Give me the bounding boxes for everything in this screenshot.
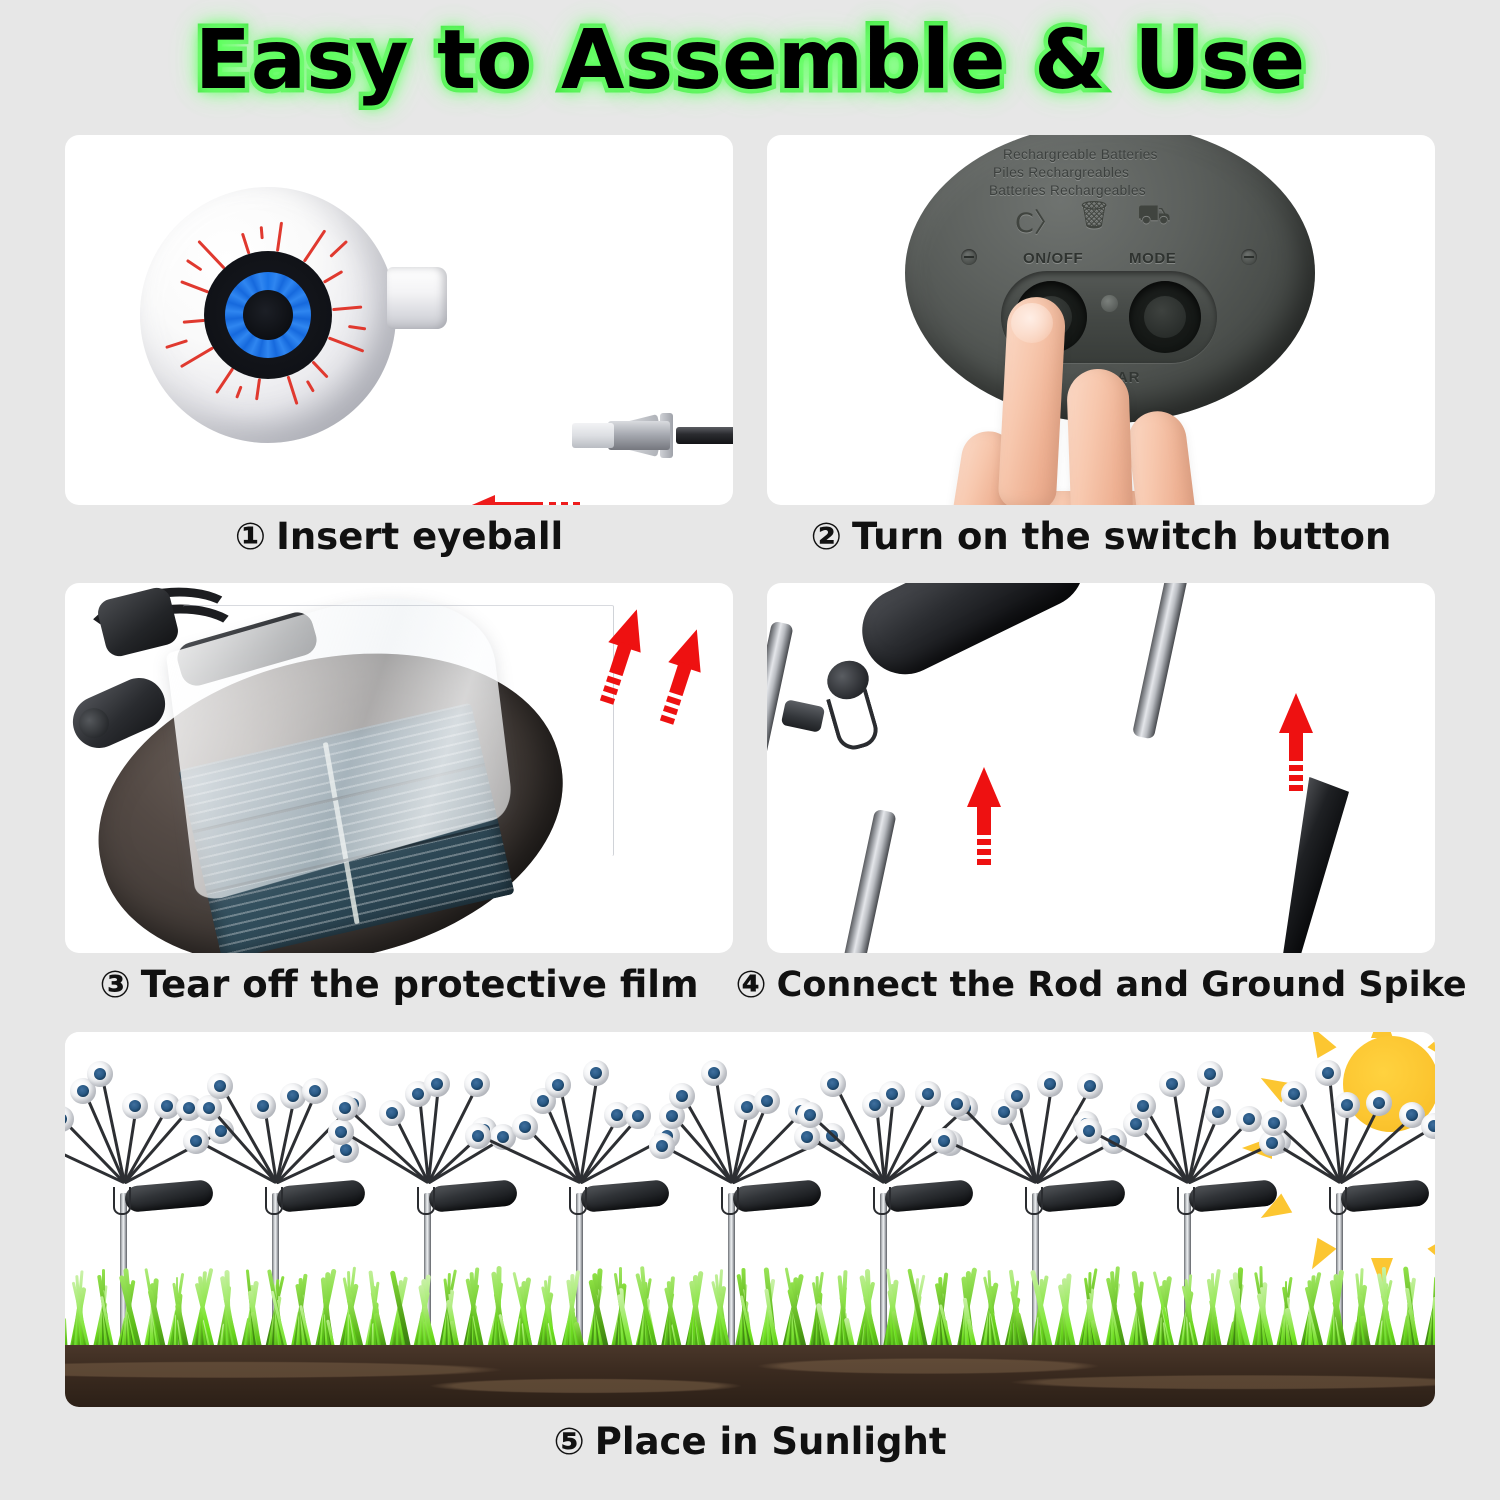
led-connector-graphic [560, 411, 733, 459]
eyeball-light-head [1159, 1071, 1185, 1097]
solar-panel-clip [1025, 1187, 1043, 1215]
solar-panel-clip [1177, 1187, 1195, 1215]
eyeball-light-head [1334, 1092, 1360, 1118]
eyeball-vein [332, 306, 362, 312]
eyeball-light-head [797, 1102, 823, 1128]
eyeball-vein-branch [185, 259, 202, 272]
step-number-4: ④ [735, 963, 766, 1006]
solar-panel-clip [873, 1187, 891, 1215]
eyeball-light-head [379, 1100, 405, 1126]
eyeball-light-head [1205, 1099, 1231, 1125]
eyeball-light-head [183, 1128, 209, 1154]
eyeball-light-head [1004, 1083, 1030, 1109]
eyeball-light-head [424, 1071, 450, 1097]
step-number-5: ⑤ [553, 1420, 584, 1463]
eyeball-vein [197, 240, 225, 270]
eyeball-light-head [545, 1072, 571, 1098]
solar-panel-clip [265, 1187, 283, 1215]
eyeball-light-head [649, 1133, 675, 1159]
eyeball-light-head [250, 1093, 276, 1119]
eyeball-vein [311, 360, 328, 378]
step-panel-turn-on-switch: Rechargreable Batteries Piles Rechargrea… [767, 135, 1435, 505]
eyeball-vein [286, 376, 298, 405]
eyeball-light-head [754, 1088, 780, 1114]
eyeball-light-head [1261, 1110, 1287, 1136]
eyeball-light-head [465, 1123, 491, 1149]
grass-band [65, 1249, 1435, 1357]
garden-scene [65, 1032, 1435, 1407]
eyeball-light-head [931, 1128, 957, 1154]
recycling-triangle-icon: ⛟ [1137, 199, 1171, 234]
eyeball-light-head [1281, 1081, 1307, 1107]
led-indicator-icon [1101, 295, 1118, 312]
caption-step-4: ④ Connect the Rod and Ground Spike [767, 963, 1435, 1006]
step-panel-insert-eyeball [65, 135, 733, 505]
solar-panel-clip [1329, 1187, 1347, 1215]
eyeball-vein-branch [347, 325, 365, 331]
screw-left-icon [961, 249, 977, 265]
eyeball-light-head [87, 1061, 113, 1087]
eyeball-light-head [701, 1060, 727, 1086]
eyeball-light-head [944, 1091, 970, 1117]
eyeball-vein [182, 319, 204, 324]
eyeball-vein [322, 270, 342, 284]
weee-bin-icon: 🗑 [1077, 199, 1111, 231]
eyeball-light-head [512, 1114, 538, 1140]
light-stem [810, 1114, 885, 1184]
eyeball-vein [180, 280, 209, 293]
eyeball-light-head [794, 1124, 820, 1150]
eyeball-light-head [332, 1095, 358, 1121]
embossed-text-line-1: Rechargreable Batteries [1003, 147, 1158, 162]
finger-middle [1066, 368, 1134, 505]
solar-panel-clip [113, 1187, 131, 1215]
eyeball-light-head [879, 1081, 905, 1107]
hand-pressing-graphic [963, 315, 1263, 505]
connector-wire-stem [676, 427, 733, 444]
eyeball-light-head [583, 1060, 609, 1086]
eyeball-vein [240, 233, 250, 255]
eyeball-light-head [820, 1071, 846, 1097]
mini-solar-panel [1340, 1179, 1430, 1213]
step-panel-connect-rod-spike [767, 583, 1435, 953]
page-title-text: Easy to Assemble & Use [195, 13, 1305, 108]
eyeball-vein-branch [165, 339, 188, 349]
rod-clip [826, 688, 882, 753]
eyeball-vein [255, 378, 261, 400]
step-caption-5: Place in Sunlight [595, 1420, 947, 1463]
light-stem [479, 1135, 581, 1184]
eyeball-vein [275, 222, 282, 252]
caption-step-5: ⑤ Place in Sunlight [65, 1420, 1435, 1463]
step-number-3: ③ [99, 963, 130, 1006]
step-caption-2: Turn on the switch button [852, 515, 1391, 558]
mode-button-label: MODE [1129, 250, 1176, 267]
light-stem [558, 1085, 581, 1183]
solar-panel-clip [721, 1187, 739, 1215]
embossed-text-line-3: Batteries Rechargeables [989, 183, 1146, 198]
eyeball-pupil [243, 290, 293, 340]
eyeball-light-head [1197, 1061, 1223, 1087]
eyeball-light-head [207, 1073, 233, 1099]
eyeball-light-head [1315, 1060, 1341, 1086]
eyeball-vein [179, 346, 213, 368]
eyeball-graphic [140, 187, 396, 443]
eyeball-light-head [669, 1083, 695, 1109]
infographic-page: Easy to Assemble & Use ① Insert eyeball [0, 0, 1500, 1500]
eyeball-light-head [1076, 1118, 1102, 1144]
soil-band [65, 1345, 1435, 1407]
caption-step-2: ② Turn on the switch button [767, 515, 1435, 558]
screw-right-icon [1241, 249, 1257, 265]
connect-arrow-left-icon [967, 767, 1001, 863]
insert-direction-arrow-icon [465, 495, 597, 505]
peel-arrow-2-icon [651, 624, 713, 726]
solar-panel-clip [417, 1187, 435, 1215]
light-stem [1187, 1074, 1212, 1183]
eyeball-vein [215, 367, 234, 394]
ce-mark-icon: C〉 [1015, 201, 1061, 240]
lamp-head-body [848, 583, 1098, 688]
step-panel-tear-off-film [65, 583, 733, 953]
step-caption-3: Tear off the protective film [141, 963, 699, 1006]
step-number-1: ① [235, 515, 266, 558]
connector-tip [572, 423, 614, 448]
eyeball-socket-stub [387, 267, 447, 329]
eyeball-light-head [1037, 1071, 1063, 1097]
film-outline [183, 605, 614, 856]
fingertip-highlight [1011, 303, 1053, 343]
eyeball-vein [327, 336, 364, 352]
step-number-2: ② [811, 515, 842, 558]
light-stem [100, 1074, 125, 1183]
light-stem [1017, 1096, 1038, 1184]
eyeball-vein-branch [259, 226, 263, 239]
light-stem [83, 1091, 125, 1184]
rod-collar [781, 699, 826, 733]
caption-step-3: ③ Tear off the protective film [65, 963, 733, 1006]
embossed-text-line-2: Piles Rechargreables [993, 165, 1129, 180]
eyeball-light-head [328, 1119, 354, 1145]
step-caption-1: Insert eyeball [276, 515, 563, 558]
ground-spike [1266, 777, 1351, 953]
caption-step-1: ① Insert eyeball [65, 515, 733, 558]
sun-ray [1302, 1032, 1336, 1058]
rod-right-section [1132, 583, 1189, 740]
eyeball-light-head [1421, 1113, 1435, 1139]
eyeball-vein-branch [305, 380, 314, 393]
connector-body [608, 421, 670, 450]
eyeball-vein-branch [329, 240, 348, 258]
eyeball-vein [302, 229, 326, 262]
connect-arrow-right-icon [1279, 693, 1313, 789]
eyeball-vein-branch [235, 386, 243, 399]
page-title: Easy to Assemble & Use [0, 8, 1500, 113]
finger-ring [1125, 408, 1199, 505]
step-panel-place-in-sunlight [65, 1032, 1435, 1407]
rod-lower-section [840, 809, 896, 953]
eyeball-light-head [1366, 1090, 1392, 1116]
light-stem [945, 1140, 1037, 1185]
eyeball-light-head [122, 1093, 148, 1119]
solar-panel-clip [569, 1187, 587, 1215]
eyeball-light-head [1130, 1093, 1156, 1119]
onoff-button-label: ON/OFF [1023, 250, 1083, 267]
step-caption-4: Connect the Rod and Ground Spike [777, 965, 1467, 1005]
